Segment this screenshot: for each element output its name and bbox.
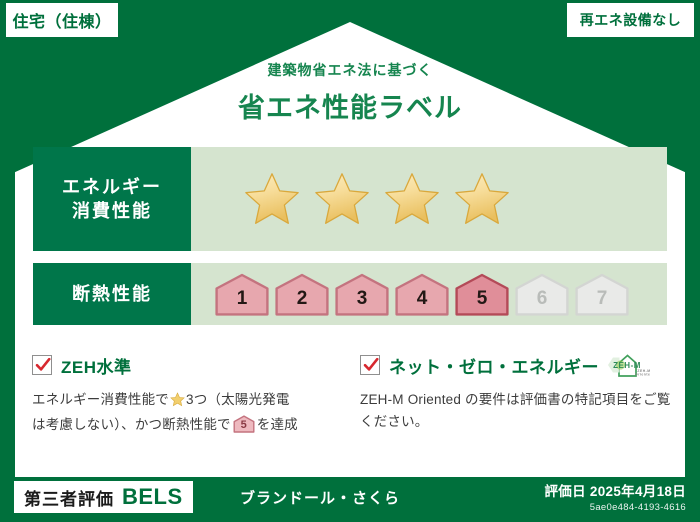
nze-title-text: ネット・ゼロ・エネルギー: [389, 353, 599, 378]
energy-performance-label-line1: エネルギー: [62, 175, 162, 199]
insulation-level-badge: 3: [335, 272, 389, 316]
star-icon: [313, 171, 371, 227]
zeh-description: エネルギー消費性能で 3つ（太陽光発電 は考慮しない）、かつ断熱性能で 5 を達…: [32, 389, 344, 436]
insulation-level-badge: 7: [575, 272, 629, 316]
criteria-zeh-standard: ZEH水準 エネルギー消費性能で 3つ（太陽光発電 は考慮しない）、かつ断熱性能…: [32, 352, 344, 436]
inline-insulation-badge-num: 5: [233, 417, 255, 435]
label-main-title: 省エネ性能ラベル: [0, 86, 700, 125]
energy-performance-label-line2: 消費性能: [72, 199, 152, 223]
insulation-performance-row: 断熱性能 1234567: [33, 263, 667, 325]
zeh-title: ZEH水準: [61, 353, 132, 378]
inline-star-icon: [170, 392, 185, 414]
bels-mark: BELS: [122, 484, 183, 510]
criteria-zeh-head: ZEH水準: [32, 352, 344, 378]
evaluation-date: 評価日 2025年4月18日: [544, 480, 686, 500]
check-icon: [362, 356, 380, 374]
insulation-performance-label: 断熱性能: [33, 263, 191, 325]
bels-third-party-label: 第三者評価: [24, 485, 114, 510]
check-icon: [34, 356, 52, 374]
insulation-level-badge: 4: [395, 272, 449, 316]
zeh-desc-part-c: を達成: [257, 417, 298, 432]
property-name: ブランドール・さくら: [240, 487, 400, 508]
energy-performance-label: エネルギー 消費性能: [33, 147, 191, 251]
insulation-level-badge: 1: [215, 272, 269, 316]
star-icon: [453, 171, 511, 227]
nze-checkbox[interactable]: [360, 355, 380, 375]
insulation-performance-label-text: 断熱性能: [72, 282, 152, 306]
star-icon: [383, 171, 441, 227]
energy-star-rating: [191, 171, 511, 227]
zeh-checkbox[interactable]: [32, 355, 52, 375]
renewable-equipment-tag-label: 再エネ設備なし: [580, 10, 682, 30]
evaluation-info: 評価日 2025年4月18日 5ae0e484-4193-4616: [544, 480, 686, 513]
insulation-level-badge: 6: [515, 272, 569, 316]
inline-insulation-badge: 5: [233, 415, 255, 433]
zeh-desc-star-count: 3つ（太陽光発電: [186, 392, 290, 407]
footer-bar: 第三者評価 BELS ブランドール・さくら 評価日 2025年4月18日 5ae…: [0, 477, 700, 522]
criteria-nze-head: ネット・ゼロ・エネルギー ZEH-M ZEH-M Oriented: [360, 352, 672, 378]
zeh-desc-part-a: エネルギー消費性能で: [32, 392, 169, 407]
nze-description: ZEH-M Oriented の要件は評価書の特記項目をご覧ください。: [360, 389, 672, 433]
insulation-level-badge: 5: [455, 272, 509, 316]
star-icon: [243, 171, 301, 227]
insulation-level-scale: 1234567: [191, 272, 629, 316]
label-subtitle: 建築物省エネ法に基づく: [0, 60, 700, 80]
criteria-net-zero-energy: ネット・ゼロ・エネルギー ZEH-M ZEH-M Oriented ZEH-M …: [360, 352, 672, 433]
svg-text:Oriented: Oriented: [635, 372, 650, 376]
energy-performance-body: [191, 147, 667, 251]
building-type-tag-label: 住宅（住棟）: [12, 8, 111, 32]
energy-performance-row: エネルギー 消費性能: [33, 147, 667, 251]
nze-title: ネット・ゼロ・エネルギー ZEH-M ZEH-M Oriented: [389, 352, 650, 378]
label-title-block: 建築物省エネ法に基づく 省エネ性能ラベル: [0, 60, 700, 125]
bels-certification-box: 第三者評価 BELS: [14, 481, 193, 513]
renewable-equipment-tag: 再エネ設備なし: [567, 3, 694, 37]
insulation-performance-body: 1234567: [191, 263, 667, 325]
zeh-m-house-icon: ZEH-M ZEH-M Oriented: [606, 352, 650, 378]
zeh-desc-part-b: は考慮しない）、かつ断熱性能で: [32, 417, 231, 432]
building-type-tag: 住宅（住棟）: [6, 3, 118, 37]
evaluation-id: 5ae0e484-4193-4616: [544, 502, 686, 513]
insulation-level-badge: 2: [275, 272, 329, 316]
